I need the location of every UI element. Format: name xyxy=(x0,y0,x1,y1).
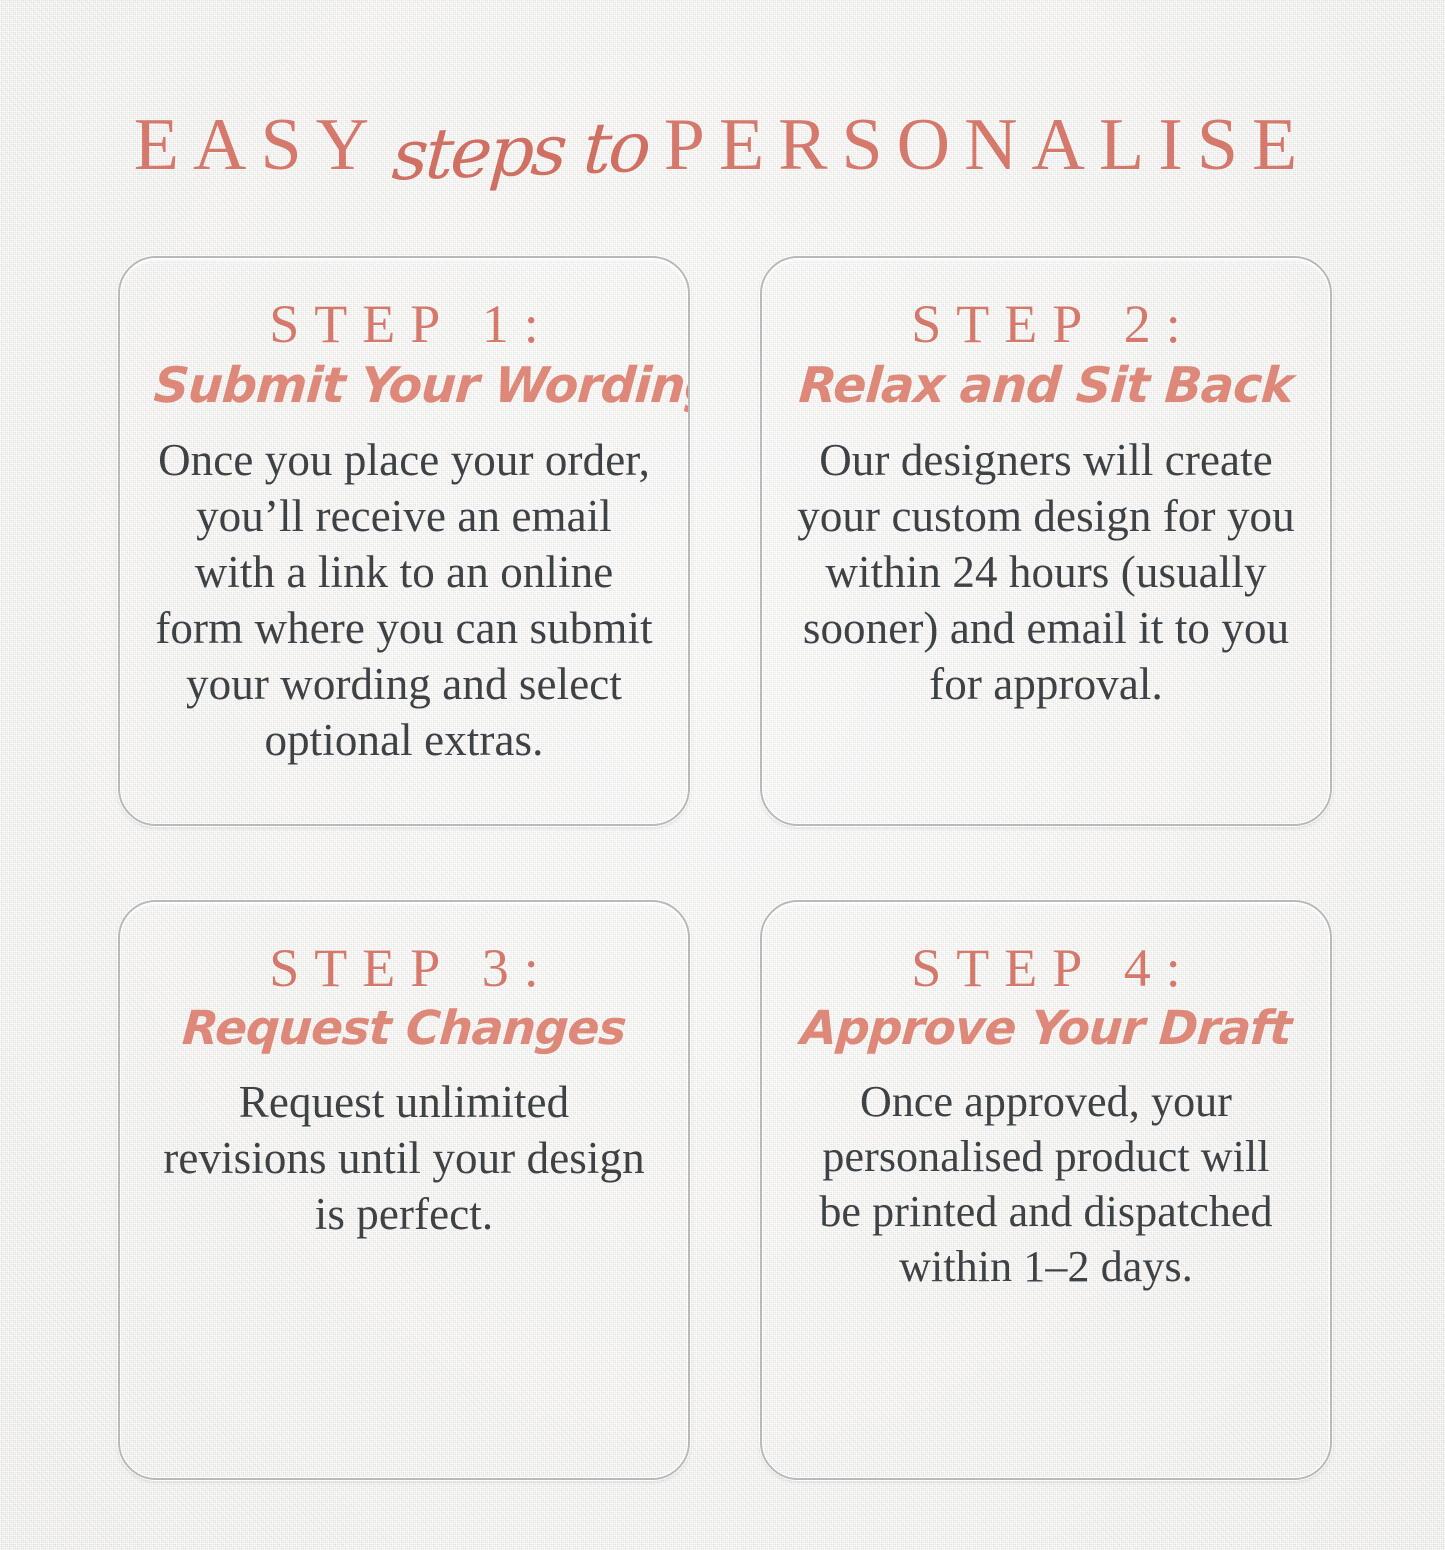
step-4-body: Once approved, your personalised product… xyxy=(796,1074,1296,1294)
steps-infographic-page: EASYsteps toPERSONALISE STEP 1: Submit Y… xyxy=(0,0,1445,1550)
title-script-steps-to: steps to xyxy=(380,111,667,191)
step-1-body: Once you place your order, you’ll receiv… xyxy=(154,432,654,768)
step-card-1-content: STEP 1: Submit Your Wording Once you pla… xyxy=(120,258,688,792)
title-word-easy: EASY xyxy=(134,104,383,186)
step-4-label: STEP 4: xyxy=(796,938,1296,998)
step-3-title: Request Changes xyxy=(152,1002,656,1056)
step-1-label: STEP 1: xyxy=(154,294,654,354)
step-2-label: STEP 2: xyxy=(796,294,1296,354)
step-2-body: Our designers will create your custom de… xyxy=(796,432,1296,712)
step-card-1: STEP 1: Submit Your Wording Once you pla… xyxy=(118,256,690,826)
page-title: EASYsteps toPERSONALISE xyxy=(0,108,1445,182)
step-card-2: STEP 2: Relax and Sit Back Our designers… xyxy=(760,256,1332,826)
step-1-title: Submit Your Wording xyxy=(152,358,656,414)
step-card-3-content: STEP 3: Request Changes Request unlimite… xyxy=(120,902,688,1266)
step-3-body: Request unlimited revisions until your d… xyxy=(154,1074,654,1242)
title-word-personalise: PERSONALISE xyxy=(664,104,1311,186)
step-card-2-content: STEP 2: Relax and Sit Back Our designers… xyxy=(762,258,1330,736)
step-card-4: STEP 4: Approve Your Draft Once approved… xyxy=(760,900,1332,1480)
step-4-title: Approve Your Draft xyxy=(794,1002,1298,1056)
step-2-title: Relax and Sit Back xyxy=(794,358,1298,414)
step-card-4-content: STEP 4: Approve Your Draft Once approved… xyxy=(762,902,1330,1318)
step-3-label: STEP 3: xyxy=(154,938,654,998)
step-card-3: STEP 3: Request Changes Request unlimite… xyxy=(118,900,690,1480)
